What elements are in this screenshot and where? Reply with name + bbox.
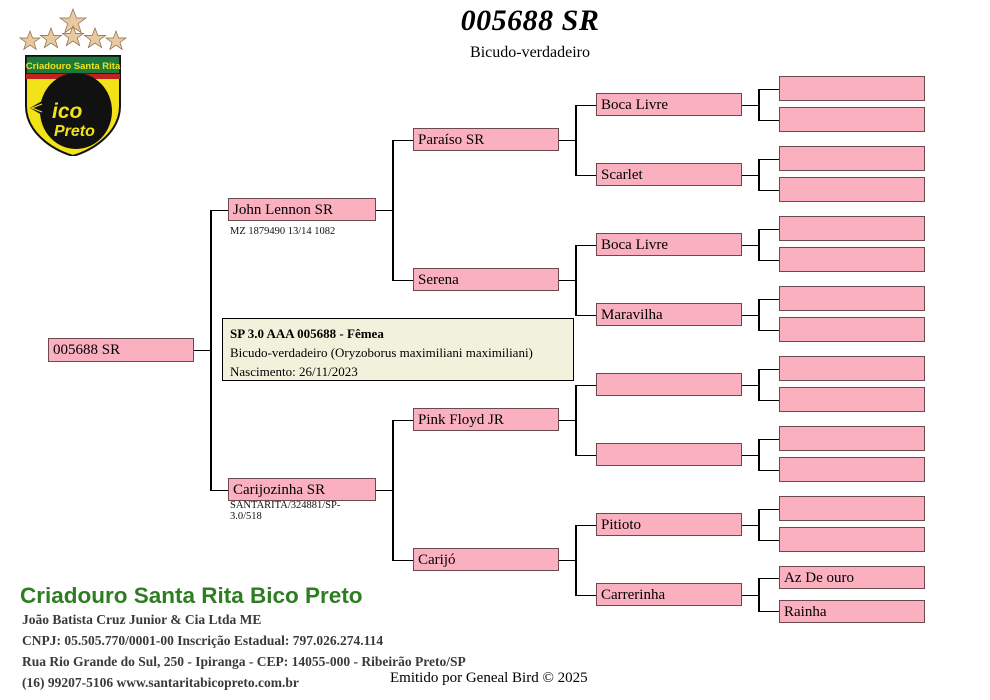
connector-root-to-mother — [210, 490, 228, 492]
node-label: Scarlet — [601, 167, 643, 183]
footer-cnpj: CNPJ: 05.505.770/0001-00 Inscrição Estad… — [22, 633, 383, 649]
connector-g4-7-stub — [741, 595, 759, 597]
logo-word-preto: Preto — [54, 123, 95, 140]
connector-g4-1-to-g5-2 — [758, 159, 779, 161]
pedigree-node-g5-7[interactable] — [779, 317, 925, 342]
criadouro-logo: Criadouro Santa Rita ico Preto — [18, 6, 128, 156]
pedigree-node-g3-3[interactable]: Carijó — [413, 548, 559, 571]
pedigree-node-g2-0[interactable]: John Lennon SR — [228, 198, 376, 221]
pedigree-ring-g2-1: SANTARITA/324881/SP- 3.0/518 — [230, 500, 390, 522]
node-label: Rainha — [784, 604, 827, 620]
connector-g2-0-to-g3-0 — [392, 140, 413, 142]
connector-g4-7-to-g5-14 — [758, 578, 779, 580]
node-label: Boca Livre — [601, 97, 668, 113]
connector-g4-6-vertical — [758, 509, 760, 541]
pedigree-node-g5-8[interactable] — [779, 356, 925, 381]
connector-g4-5-to-g5-10 — [758, 439, 779, 441]
connector-g4-6-to-g5-13 — [758, 540, 779, 542]
connector-root-to-father — [210, 210, 228, 212]
pedigree-node-g4-0[interactable]: Boca Livre — [596, 93, 742, 116]
connector-g2-0-vertical — [392, 140, 394, 281]
node-label: Pink Floyd JR — [418, 412, 504, 428]
pedigree-node-g5-6[interactable] — [779, 286, 925, 311]
pedigree-node-g5-10[interactable] — [779, 426, 925, 451]
node-label: Boca Livre — [601, 237, 668, 253]
pedigree-node-g4-3[interactable]: Maravilha — [596, 303, 742, 326]
connector-g4-4-vertical — [758, 369, 760, 401]
connector-g3-2-to-g4-4 — [575, 385, 596, 387]
node-label: Carijozinha SR — [233, 482, 325, 498]
node-label: Pitioto — [601, 517, 641, 533]
connector-g3-0-to-g4-1 — [575, 175, 596, 177]
connector-g4-4-to-g5-8 — [758, 369, 779, 371]
connector-g4-0-stub — [741, 105, 759, 107]
pedigree-node-g5-11[interactable] — [779, 457, 925, 482]
connector-g3-3-to-g4-6 — [575, 525, 596, 527]
connector-g3-2-to-g4-5 — [575, 455, 596, 457]
node-label: John Lennon SR — [233, 202, 333, 218]
connector-g4-3-vertical — [758, 299, 760, 331]
pedigree-node-g4-2[interactable]: Boca Livre — [596, 233, 742, 256]
pedigree-node-g5-9[interactable] — [779, 387, 925, 412]
connector-g2-1-to-g3-2 — [392, 420, 413, 422]
connector-g3-3-vertical — [575, 525, 577, 596]
node-label: Carijó — [418, 552, 456, 568]
footer-issued-by: Emitido por Geneal Bird © 2025 — [390, 670, 588, 687]
pedigree-node-g4-6[interactable]: Pitioto — [596, 513, 742, 536]
connector-g3-0-to-g4-0 — [575, 105, 596, 107]
node-label: 005688 SR — [53, 342, 120, 358]
connector-g4-7-to-g5-15 — [758, 611, 779, 613]
connector-g3-1-stub — [558, 280, 576, 282]
connector-g3-2-vertical — [575, 385, 577, 456]
pedigree-node-g5-0[interactable] — [779, 76, 925, 101]
pedigree-node-g4-4[interactable] — [596, 373, 742, 396]
logo-word-bico: ico — [52, 100, 83, 123]
connector-g4-4-stub — [741, 385, 759, 387]
pedigree-certificate-page: Criadouro Santa Rita ico Preto 005688 SR… — [0, 0, 990, 700]
connector-g3-0-stub — [558, 140, 576, 142]
connector-g3-3-stub — [558, 560, 576, 562]
logo-banner-text: Criadouro Santa Rita — [26, 61, 121, 72]
pedigree-node-g5-1[interactable] — [779, 107, 925, 132]
connector-g4-0-to-g5-0 — [758, 89, 779, 91]
connector-g3-1-vertical — [575, 245, 577, 316]
pedigree-node-g4-5[interactable] — [596, 443, 742, 466]
connector-g4-2-to-g5-5 — [758, 260, 779, 262]
pedigree-node-g5-15[interactable]: Rainha — [779, 600, 925, 623]
node-label: Az De ouro — [784, 570, 854, 586]
connector-g4-5-stub — [741, 455, 759, 457]
pedigree-node-g4-7[interactable]: Carrerinha — [596, 583, 742, 606]
connector-g4-7-vertical — [758, 578, 760, 612]
pedigree-node-g3-1[interactable]: Serena — [413, 268, 559, 291]
node-label: Maravilha — [601, 307, 663, 323]
connector-g4-3-stub — [741, 315, 759, 317]
connector-g3-0-vertical — [575, 105, 577, 176]
connector-g3-1-to-g4-3 — [575, 315, 596, 317]
pedigree-node-g5-3[interactable] — [779, 177, 925, 202]
connector-g4-5-to-g5-11 — [758, 470, 779, 472]
node-label: Carrerinha — [601, 587, 665, 603]
pedigree-node-g2-1[interactable]: Carijozinha SR — [228, 478, 376, 501]
connector-g2-1-vertical — [392, 420, 394, 561]
connector-g4-1-vertical — [758, 159, 760, 191]
pedigree-node-g5-12[interactable] — [779, 496, 925, 521]
connector-g4-4-to-g5-9 — [758, 400, 779, 402]
info-line-registration: SP 3.0 AAA 005688 - Fêmea — [230, 324, 567, 343]
connector-g3-1-to-g4-2 — [575, 245, 596, 247]
connector-g4-5-vertical — [758, 439, 760, 471]
pedigree-node-g3-2[interactable]: Pink Floyd JR — [413, 408, 559, 431]
node-label: Paraíso SR — [418, 132, 484, 148]
connector-g2-1-to-g3-3 — [392, 560, 413, 562]
connector-g4-0-vertical — [758, 89, 760, 121]
page-subtitle: Bicudo-verdadeiro — [330, 44, 730, 62]
pedigree-node-g5-13[interactable] — [779, 527, 925, 552]
connector-root-stub — [194, 350, 211, 352]
page-title: 005688 SR — [330, 4, 730, 38]
pedigree-node-g5-4[interactable] — [779, 216, 925, 241]
footer-contact: (16) 99207-5106 www.santaritabicopreto.c… — [22, 675, 299, 691]
connector-g3-3-to-g4-7 — [575, 595, 596, 597]
info-line-birth: Nascimento: 26/11/2023 — [230, 362, 567, 381]
node-label: Serena — [418, 272, 459, 288]
connector-g4-6-to-g5-12 — [758, 509, 779, 511]
connector-g4-3-to-g5-6 — [758, 299, 779, 301]
connector-g4-2-to-g5-4 — [758, 229, 779, 231]
connector-g4-2-vertical — [758, 229, 760, 261]
connector-g2-1-stub — [376, 490, 393, 492]
connector-g4-2-stub — [741, 245, 759, 247]
footer-company: João Batista Cruz Junior & Cia Ltda ME — [22, 612, 261, 628]
pedigree-node-g5-14[interactable]: Az De ouro — [779, 566, 925, 589]
info-line-species: Bicudo-verdadeiro (Oryzoborus maximilian… — [230, 343, 567, 362]
connector-g4-3-to-g5-7 — [758, 330, 779, 332]
pedigree-node-g1-0[interactable]: 005688 SR — [48, 338, 194, 362]
footer-address: Rua Rio Grande do Sul, 250 - Ipiranga - … — [22, 654, 466, 670]
connector-root-vertical — [210, 210, 212, 491]
connector-g4-1-stub — [741, 175, 759, 177]
connector-g4-1-to-g5-3 — [758, 190, 779, 192]
pedigree-node-g3-0[interactable]: Paraíso SR — [413, 128, 559, 151]
connector-g2-0-to-g3-1 — [392, 280, 413, 282]
connector-g4-0-to-g5-1 — [758, 120, 779, 122]
subject-info-box: SP 3.0 AAA 005688 - Fêmea Bicudo-verdade… — [222, 318, 574, 381]
pedigree-node-g5-5[interactable] — [779, 247, 925, 272]
pedigree-node-g4-1[interactable]: Scarlet — [596, 163, 742, 186]
pedigree-node-g5-2[interactable] — [779, 146, 925, 171]
pedigree-ring-g2-0: MZ 1879490 13/14 1082 — [230, 226, 410, 237]
connector-g2-0-stub — [376, 210, 393, 212]
connector-g4-6-stub — [741, 525, 759, 527]
connector-g3-2-stub — [558, 420, 576, 422]
footer-breeder-name: Criadouro Santa Rita Bico Preto — [20, 583, 363, 609]
